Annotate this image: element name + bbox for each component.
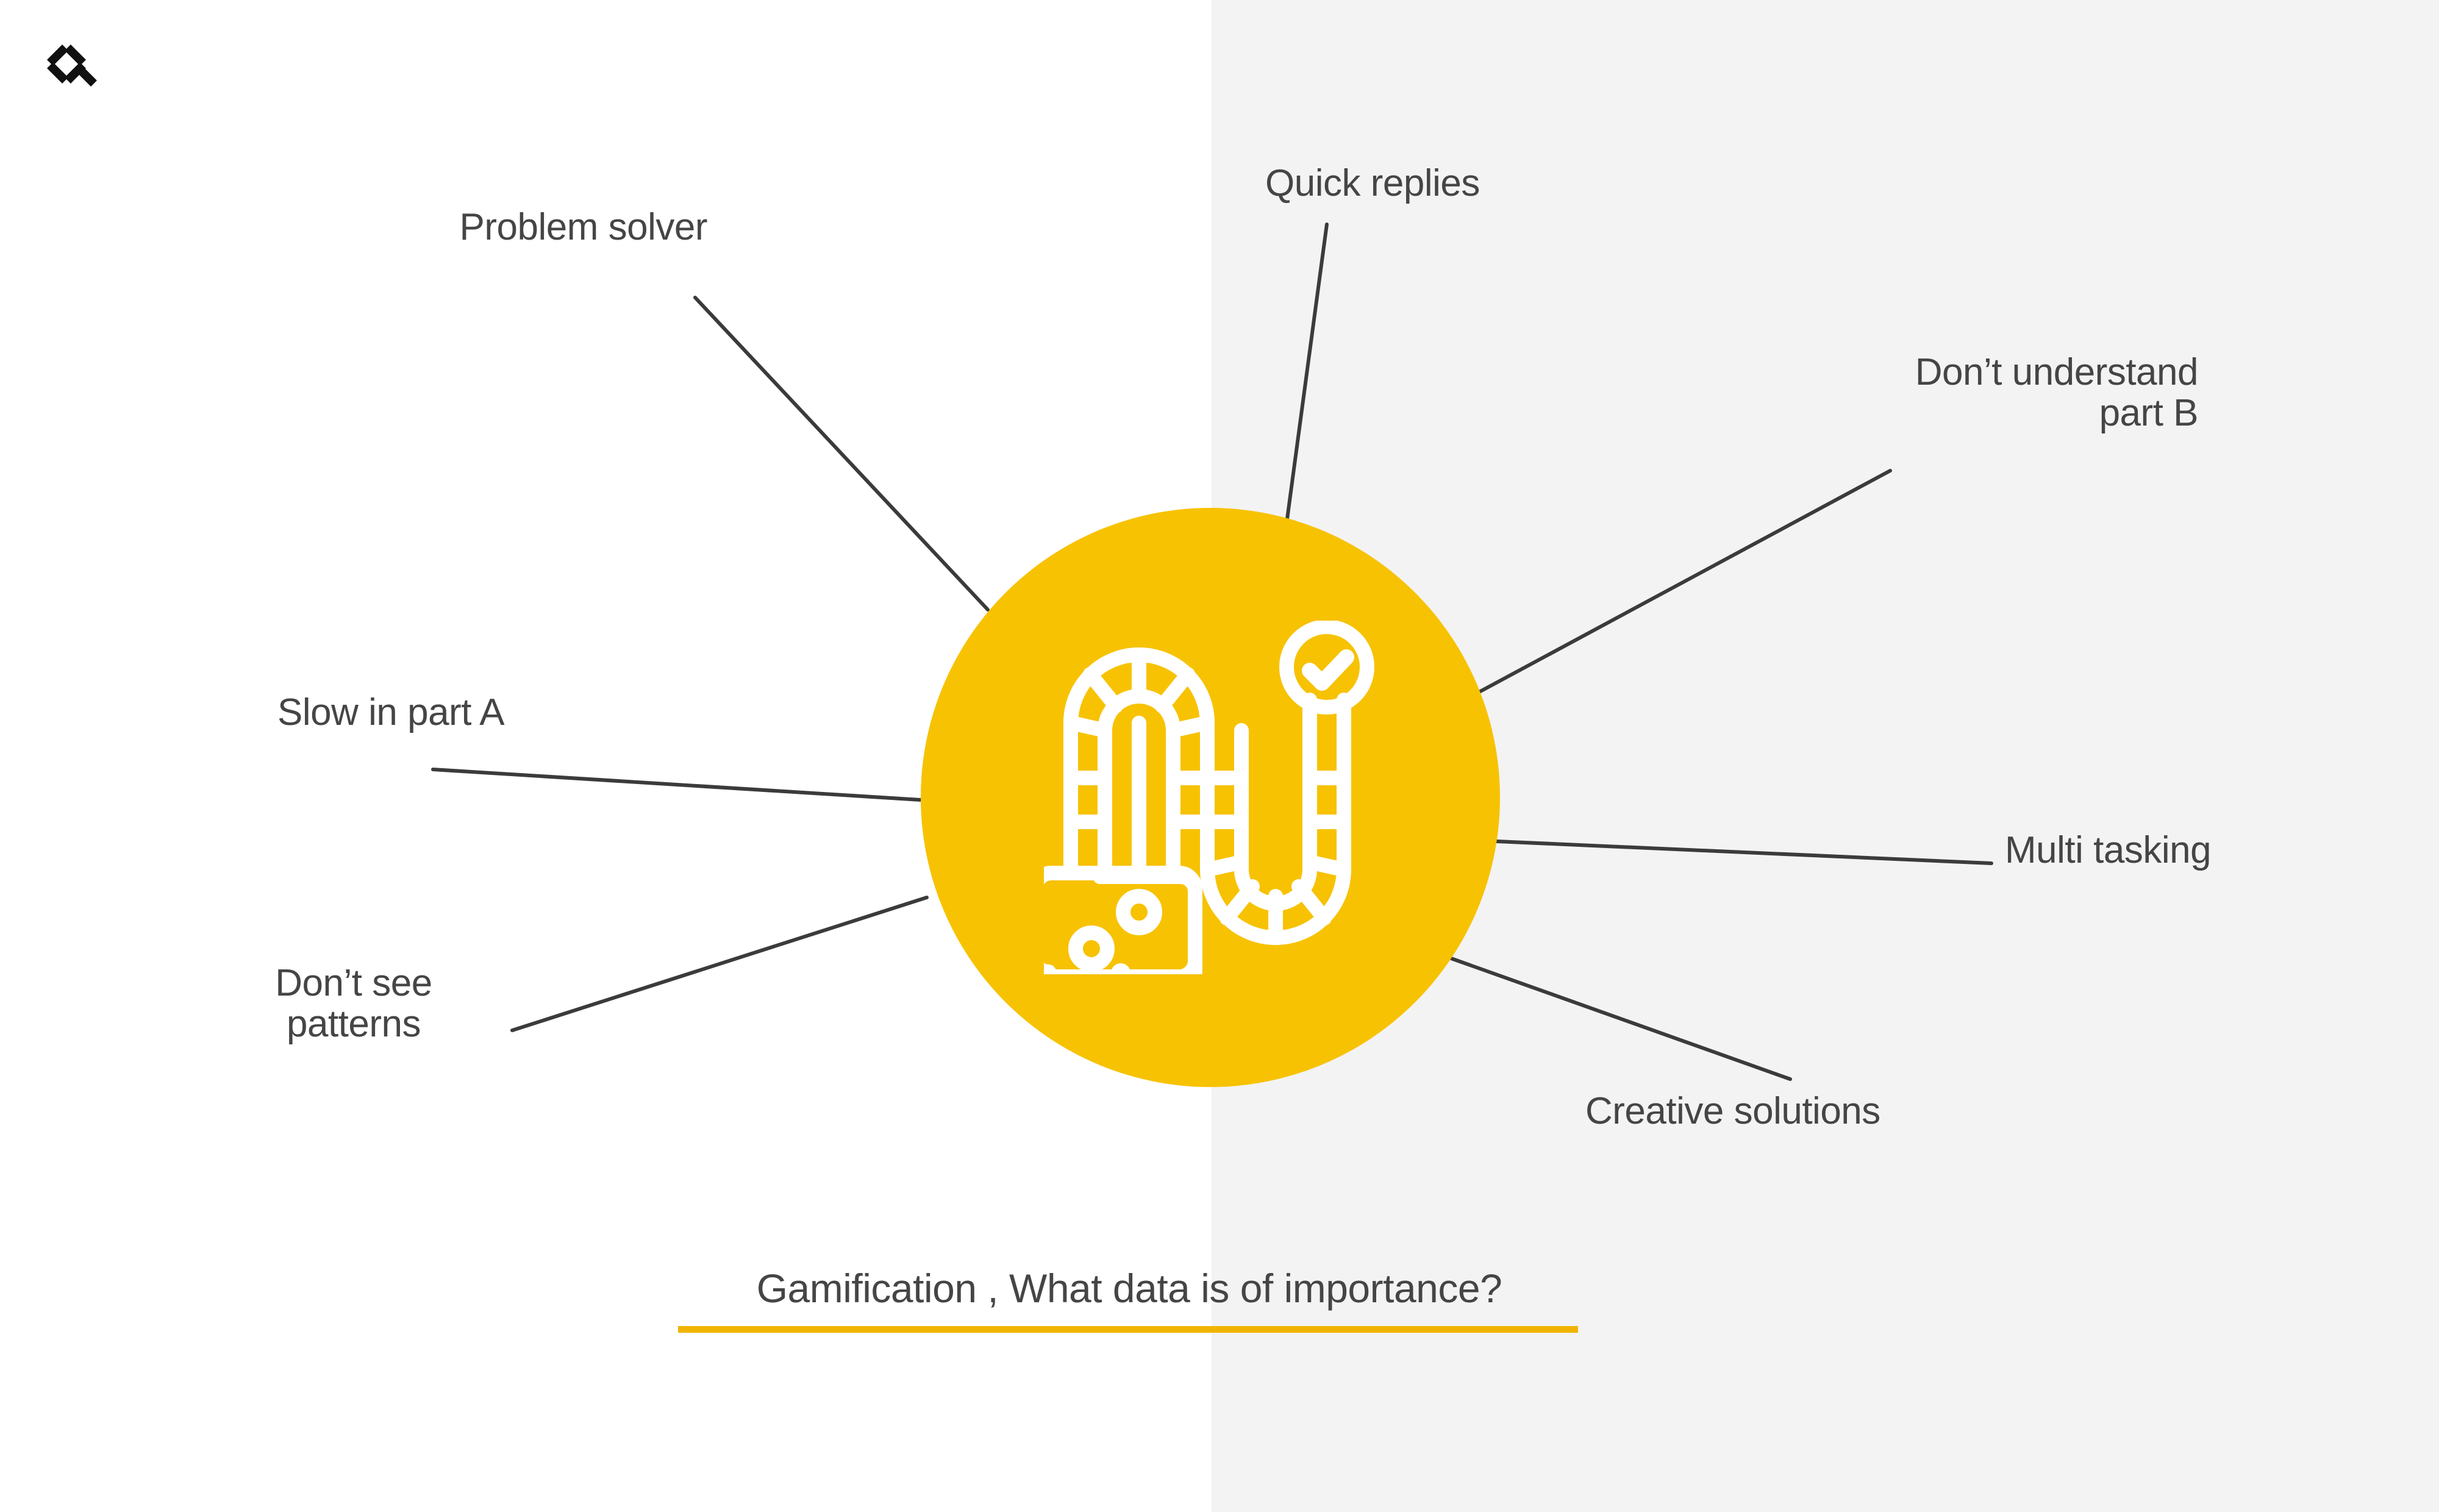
page-title: Gamification , What data is of importanc… — [678, 1265, 1580, 1311]
spoke-label-dont-understand-part-b[interactable]: Don’t understand part B — [1537, 352, 2198, 434]
infographic-slide: Problem solver Quick replies Don’t under… — [0, 0, 2439, 1512]
connector-dont-see-patterns — [512, 897, 927, 1030]
spoke-label-quick-replies[interactable]: Quick replies — [1265, 163, 1692, 204]
spoke-label-slow-in-part-a[interactable]: Slow in part A — [277, 693, 704, 733]
spoke-label-creative-solutions[interactable]: Creative solutions — [1585, 1091, 2134, 1132]
spoke-label-problem-solver[interactable]: Problem solver — [341, 207, 707, 248]
title-underline — [678, 1326, 1578, 1333]
slide-title-block: Gamification , What data is of importanc… — [678, 1265, 1580, 1333]
diamond-magnifier-logo[interactable] — [45, 44, 98, 96]
connector-multi-tasking — [1469, 840, 1991, 863]
spoke-label-dont-see-patterns[interactable]: Don’t see patterns — [183, 963, 524, 1045]
connector-dont-understand — [1478, 471, 1890, 693]
connector-slow-in-part-a — [433, 769, 921, 800]
spoke-label-multi-tasking[interactable]: Multi tasking — [2005, 830, 2432, 871]
connector-creative-solutions — [1451, 958, 1790, 1079]
game-board-path-check-icon — [1044, 621, 1377, 974]
connector-problem-solver — [695, 298, 988, 610]
